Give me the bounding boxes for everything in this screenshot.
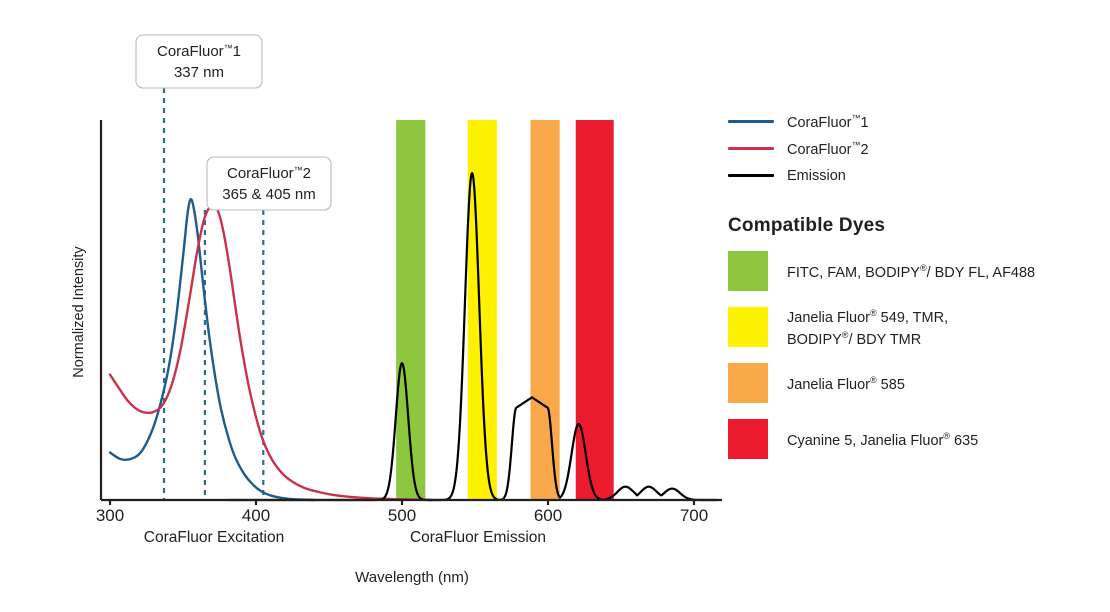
callout-value-2: 365 & 405 nm [222,186,315,203]
callout-corafluor2: CoraFluor™2 365 & 405 nm [207,157,331,210]
dye-color-swatch [728,419,768,459]
trademark-icon: ™ [851,140,860,150]
xtick-label-300: 300 [96,506,124,525]
x-axis-tick-labels: 300 400 500 600 700 [96,506,708,525]
dye-item-2[interactable]: Janelia Fluor® 585 [728,361,1100,405]
dye-color-swatch [728,307,768,347]
dye-item-label: Janelia Fluor® 585 [787,372,905,394]
xtick-label-700: 700 [680,506,708,525]
callout-value-1: 337 nm [174,64,224,81]
legend-item-2[interactable]: Emission [728,162,1100,189]
registered-icon: ® [870,375,877,385]
legend-item-label: CoraFluor™1 [787,113,869,131]
xtick-label-400: 400 [242,506,270,525]
legend-item-1[interactable]: CoraFluor™2 [728,135,1100,162]
registered-icon: ® [870,308,877,318]
curve-corafluor1 [110,199,314,500]
registered-icon: ® [920,263,927,273]
dye-item-label: FITC, FAM, BODIPY®/ BDY FL, AF488 [787,260,1035,282]
dye-item-label: Janelia Fluor® 549, TMR,BODIPY®/ BDY TMR [787,305,948,349]
dye-label-line1: Cyanine 5, Janelia Fluor® 635 [787,428,978,450]
dye-label-line1: Janelia Fluor® 549, TMR, [787,305,948,327]
compatible-dyes-list: FITC, FAM, BODIPY®/ BDY FL, AF488Janelia… [728,249,1100,461]
curve-corafluor2 [110,205,431,500]
region-label-excitation: CoraFluor Excitation [144,529,284,546]
callout-corafluor1: CoraFluor™1 337 nm [136,35,262,88]
band-red-band [576,120,614,500]
wavelength-bands [396,120,614,500]
xtick-label-600: 600 [534,506,562,525]
legend-item-label: Emission [787,168,846,184]
dye-item-1[interactable]: Janelia Fluor® 549, TMR,BODIPY®/ BDY TMR [728,305,1100,349]
legend-line-swatch [728,174,774,177]
dye-item-0[interactable]: FITC, FAM, BODIPY®/ BDY FL, AF488 [728,249,1100,293]
legend-item-label: CoraFluor™2 [787,140,869,158]
dye-color-swatch [728,251,768,291]
dye-item-label: Cyanine 5, Janelia Fluor® 635 [787,428,978,450]
legend-line-swatch [728,147,774,150]
series-legend: CoraFluor™1CoraFluor™2Emission [728,108,1100,189]
dye-color-swatch [728,363,768,403]
x-axis-title: Wavelength (nm) [355,569,469,586]
region-label-emission: CoraFluor Emission [410,529,546,546]
compatible-dyes-title: Compatible Dyes [728,215,1100,237]
xtick-label-500: 500 [388,506,416,525]
dye-label-line2: BODIPY®/ BDY TMR [787,327,948,349]
dye-label-line1: Janelia Fluor® 585 [787,372,905,394]
dye-item-3[interactable]: Cyanine 5, Janelia Fluor® 635 [728,417,1100,461]
legend-panel: CoraFluor™1CoraFluor™2Emission Compatibl… [728,108,1100,473]
band-orange-band [530,120,559,500]
legend-item-0[interactable]: CoraFluor™1 [728,108,1100,135]
y-axis-title: Normalized Intensity [71,246,87,378]
registered-icon: ® [943,431,950,441]
registered-icon: ® [842,330,849,340]
spectra-figure: 300 400 500 600 700 CoraFluor Excitation… [0,0,1110,612]
legend-line-swatch [728,120,774,123]
dye-label-line1: FITC, FAM, BODIPY®/ BDY FL, AF488 [787,260,1035,282]
trademark-icon: ™ [851,113,860,123]
